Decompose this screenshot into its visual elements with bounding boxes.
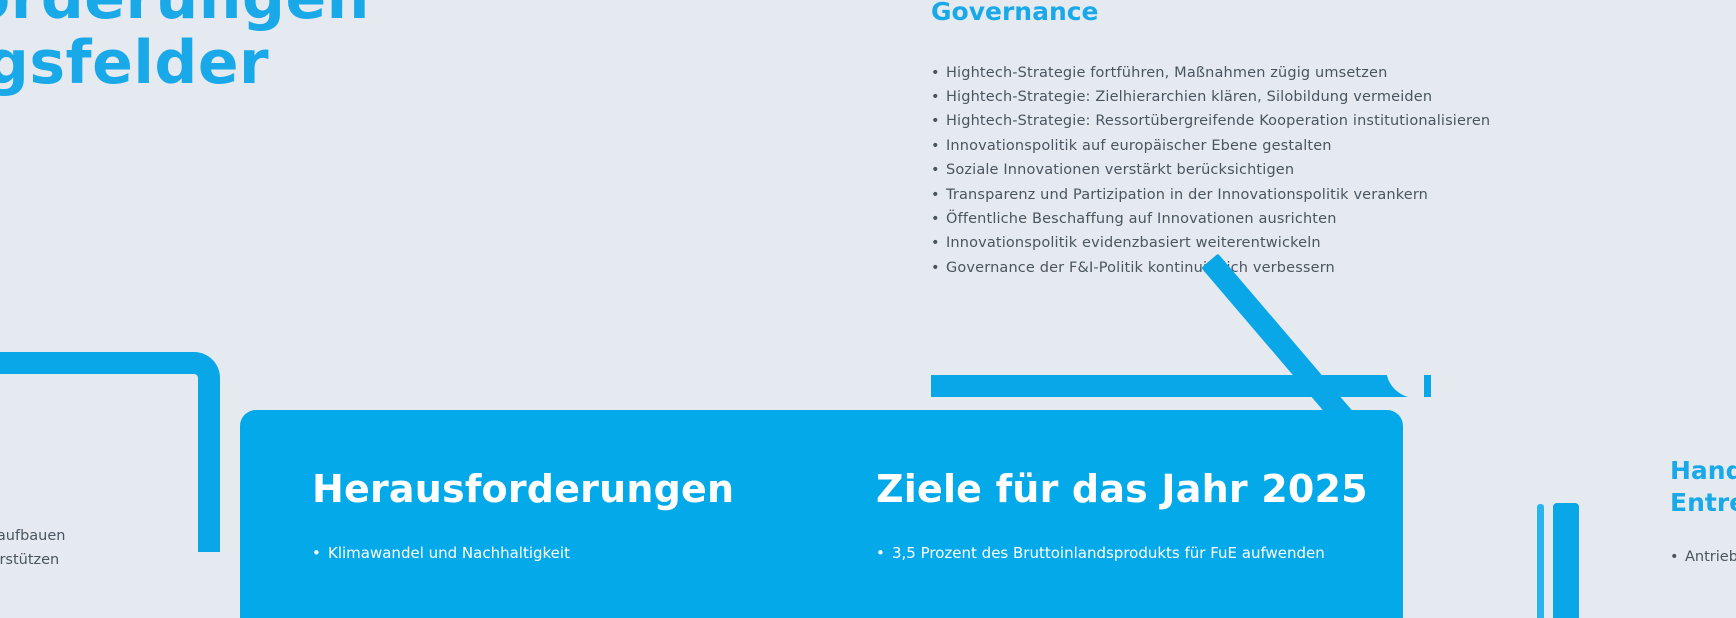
accent-bar-thin [1537, 504, 1544, 618]
handlungsfeld-entrepreneurship-section: Handlungsfeld Entrepreneurship Antrieb f… [1670, 455, 1736, 569]
poster-title: Herausforderungen Handlungsfelder [0, 0, 370, 96]
governance-bullet-list: Hightech-Strategie fortführen, Maßnahmen… [931, 61, 1671, 281]
governance-section: Handlungsfeld Governance Hightech-Strate… [931, 0, 1671, 280]
main-blue-panel: Herausforderungen Klimawandel und Nachha… [240, 410, 1403, 618]
cropped-bullet-list: Forschungsinfrastruktur aufbauen Technol… [0, 524, 224, 573]
handlungsfeld-bullet-list: Antrieb für Innovation [1670, 545, 1736, 569]
challenges-column: Herausforderungen Klimawandel und Nachha… [312, 468, 832, 565]
connector-elbow-left [0, 352, 220, 552]
handlungsfeld-heading-line-1: Handlungsfeld [1670, 455, 1736, 487]
list-item: Hightech-Strategie fortführen, Maßnahmen… [931, 61, 1671, 85]
handlungsfeld-heading-line-2: Entrepreneurship [1670, 487, 1736, 519]
list-item: Innovationspolitik evidenzbasiert weiter… [931, 231, 1671, 255]
list-item: Antrieb für Innovation [1670, 545, 1736, 569]
list-item: Innovationspolitik auf europäischer Eben… [931, 134, 1671, 158]
governance-heading: Governance [931, 0, 1671, 28]
cropped-left-bullets: Forschungsinfrastruktur aufbauen Technol… [0, 524, 224, 573]
poster-canvas: Herausforderungen Handlungsfelder Handlu… [0, 0, 1736, 618]
list-item: Soziale Innovationen verstärkt berücksic… [931, 158, 1671, 182]
list-item: Transparenz und Partizipation in der Inn… [931, 183, 1671, 207]
list-item: Klimawandel und Nachhaltigkeit [312, 541, 832, 565]
list-item: Technologietransfer unterstützen [0, 548, 224, 572]
list-item: 3,5 Prozent des Bruttoinlandsprodukts fü… [876, 541, 1396, 565]
poster-title-line-2: Handlungsfelder [0, 31, 370, 96]
goals-bullet-list: 3,5 Prozent des Bruttoinlandsprodukts fü… [876, 541, 1396, 565]
list-item: Forschungsinfrastruktur aufbauen [0, 524, 224, 548]
goals-column: Ziele für das Jahr 2025 3,5 Prozent des … [876, 468, 1396, 565]
list-item: Öffentliche Beschaffung auf Innovationen… [931, 207, 1671, 231]
challenges-heading: Herausforderungen [312, 468, 832, 511]
list-item: Hightech-Strategie: Ressortübergreifende… [931, 109, 1671, 133]
goals-heading: Ziele für das Jahr 2025 [876, 468, 1396, 511]
challenges-bullet-list: Klimawandel und Nachhaltigkeit [312, 541, 832, 565]
connector-horizontal-right [931, 375, 1431, 397]
accent-bar-thick [1553, 503, 1579, 618]
list-item: Governance der F&I-Politik kontinuierlic… [931, 256, 1671, 280]
poster-title-line-1: Herausforderungen [0, 0, 370, 31]
list-item: Hightech-Strategie: Zielhierarchien klär… [931, 85, 1671, 109]
